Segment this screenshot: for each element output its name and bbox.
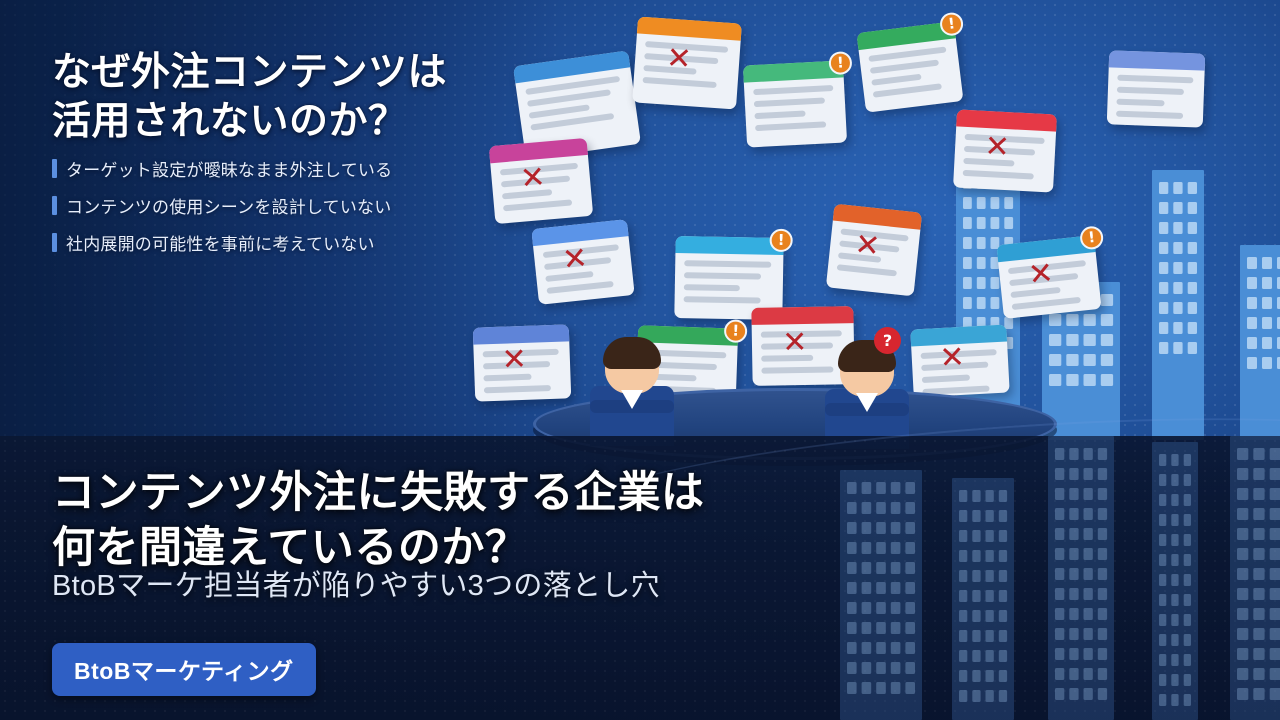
title-line-1: コンテンツ外注に失敗する企業は: [52, 466, 912, 521]
category-tag[interactable]: BtoBマーケティング: [52, 643, 316, 696]
skyline-bottom: [0, 0, 1280, 720]
poster-canvas: ✕!!✕✕✕!✕✕!✕!✕✕ ? なぜ外注コンテンツは 活用されないのか？ ター…: [0, 0, 1280, 720]
page-subtitle: BtoBマーケ担当者が陥りやすい3つの落とし穴: [52, 568, 912, 606]
page-title: コンテンツ外注に失敗する企業は 何を間違えているのか？: [52, 466, 912, 576]
